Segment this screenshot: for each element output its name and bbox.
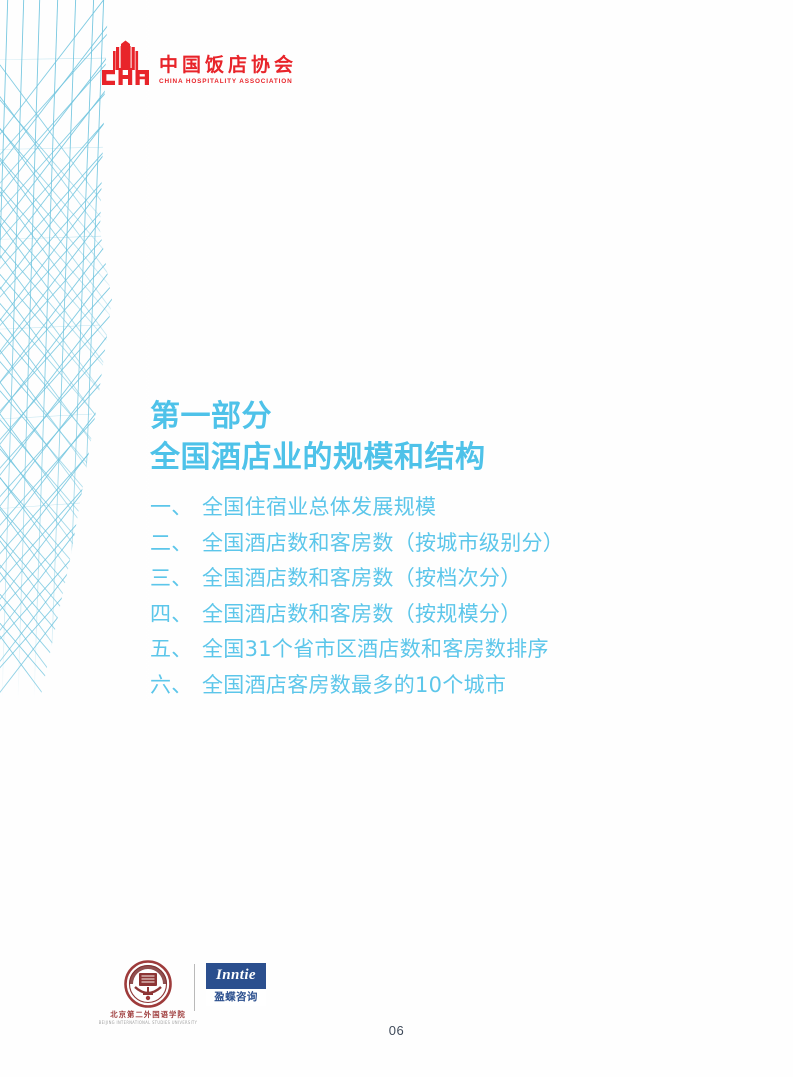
cha-logo: 中国饭店协会 CHINA HOSPITALITY ASSOCIATION <box>99 40 297 88</box>
toc-item[interactable]: 三、 全国酒店数和客房数（按档次分） <box>150 561 710 597</box>
footer-logos: 北京第二外国语学院 BEIJING INTERNATIONAL STUDIES … <box>110 960 266 1025</box>
cha-english-name: CHINA HOSPITALITY ASSOCIATION <box>159 78 297 86</box>
toc-item[interactable]: 五、 全国31个省市区酒店数和客房数排序 <box>150 632 710 668</box>
toc-item-number: 五、 <box>150 639 202 660</box>
bisu-chinese-name: 北京第二外国语学院 <box>110 1009 186 1020</box>
footer-divider <box>194 964 195 1011</box>
cha-building-mark-icon <box>99 40 152 88</box>
document-page: 中国饭店协会 CHINA HOSPITALITY ASSOCIATION 第一部… <box>0 0 793 1077</box>
toc-item-label: 全国酒店客房数最多的10个城市 <box>202 675 506 696</box>
toc-item-number: 一、 <box>150 497 202 518</box>
toc-item-label: 全国酒店数和客房数（按规模分） <box>202 604 522 625</box>
section-content: 第一部分 全国酒店业的规模和结构 一、 全国住宿业总体发展规模 二、 全国酒店数… <box>150 398 710 719</box>
part-title: 全国酒店业的规模和结构 <box>150 438 710 478</box>
toc-item[interactable]: 一、 全国住宿业总体发展规模 <box>150 490 710 526</box>
bisu-logo: 北京第二外国语学院 BEIJING INTERNATIONAL STUDIES … <box>110 960 186 1025</box>
cha-chinese-name: 中国饭店协会 <box>159 55 297 77</box>
toc-item[interactable]: 二、 全国酒店数和客房数（按城市级别分） <box>150 525 710 561</box>
inntie-chinese-name: 盈蝶咨询 <box>206 989 266 1006</box>
table-of-contents: 一、 全国住宿业总体发展规模 二、 全国酒店数和客房数（按城市级别分） 三、 全… <box>150 490 710 703</box>
toc-item-label: 全国酒店数和客房数（按档次分） <box>202 568 522 589</box>
lattice-tower-graphic <box>0 0 150 700</box>
part-label: 第一部分 <box>150 398 710 436</box>
toc-item-label: 全国31个省市区酒店数和客房数排序 <box>202 639 549 660</box>
toc-item-label: 全国酒店数和客房数（按城市级别分） <box>202 533 564 554</box>
toc-item-number: 三、 <box>150 568 202 589</box>
cha-logo-text: 中国饭店协会 CHINA HOSPITALITY ASSOCIATION <box>159 55 297 88</box>
bisu-circular-seal-icon <box>124 960 172 1008</box>
toc-item-number: 六、 <box>150 675 202 696</box>
inntie-brand: Inntie <box>206 963 266 989</box>
inntie-logo: Inntie 盈蝶咨询 <box>206 963 266 1025</box>
toc-item-label: 全国住宿业总体发展规模 <box>202 497 436 518</box>
toc-item-number: 四、 <box>150 604 202 625</box>
toc-item-number: 二、 <box>150 533 202 554</box>
toc-item[interactable]: 六、 全国酒店客房数最多的10个城市 <box>150 667 710 703</box>
toc-item[interactable]: 四、 全国酒店数和客房数（按规模分） <box>150 596 710 632</box>
page-number: 06 <box>0 1023 793 1038</box>
